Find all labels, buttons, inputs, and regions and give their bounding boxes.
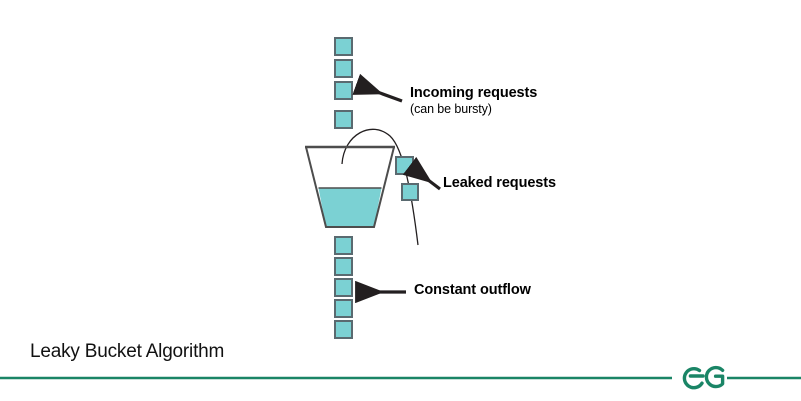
leaked-square bbox=[402, 184, 418, 200]
leaked-requests-label: Leaked requests bbox=[443, 176, 556, 192]
request-square bbox=[335, 60, 352, 77]
incoming-requests-arrow bbox=[358, 85, 402, 101]
diagram-canvas: Incoming requests (can be bursty) Leaked… bbox=[0, 0, 801, 401]
incoming-requests-group bbox=[335, 38, 352, 128]
request-square bbox=[335, 321, 352, 338]
request-square bbox=[335, 111, 352, 128]
constant-outflow-label: Constant outflow bbox=[414, 283, 531, 299]
request-square bbox=[335, 279, 352, 296]
request-square bbox=[335, 82, 352, 99]
request-square bbox=[335, 38, 352, 55]
incoming-requests-label: Incoming requests bbox=[410, 86, 537, 102]
request-square bbox=[335, 258, 352, 275]
bucket-group bbox=[305, 147, 395, 227]
page-title: Leaky Bucket Algorithm bbox=[30, 341, 224, 363]
outflow-requests-group bbox=[335, 237, 352, 338]
incoming-requests-sublabel: (can be bursty) bbox=[410, 103, 492, 117]
geeksforgeeks-logo bbox=[684, 368, 722, 388]
request-square bbox=[335, 300, 352, 317]
leaked-square bbox=[396, 157, 413, 174]
bucket-liquid bbox=[319, 188, 382, 227]
request-square bbox=[335, 237, 352, 254]
